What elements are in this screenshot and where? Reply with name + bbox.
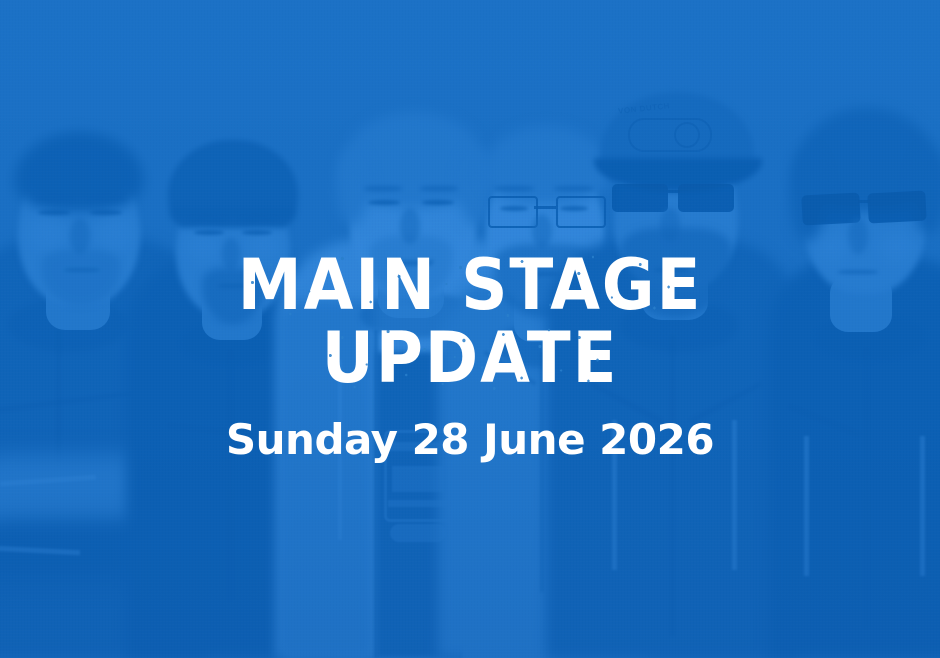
- headline-line-2: UPDATE: [38, 325, 903, 392]
- headline-line-1-text: MAIN STAGE: [238, 252, 703, 319]
- headline-line-1: MAIN STAGE: [38, 252, 903, 319]
- text-overlay: MAIN STAGE UPDATE Sunday 28 June 2026: [0, 0, 940, 658]
- event-date: Sunday 28 June 2026: [0, 415, 940, 464]
- headline-line-2-text: UPDATE: [322, 325, 619, 392]
- poster-canvas: VON DUTCH: [0, 0, 940, 658]
